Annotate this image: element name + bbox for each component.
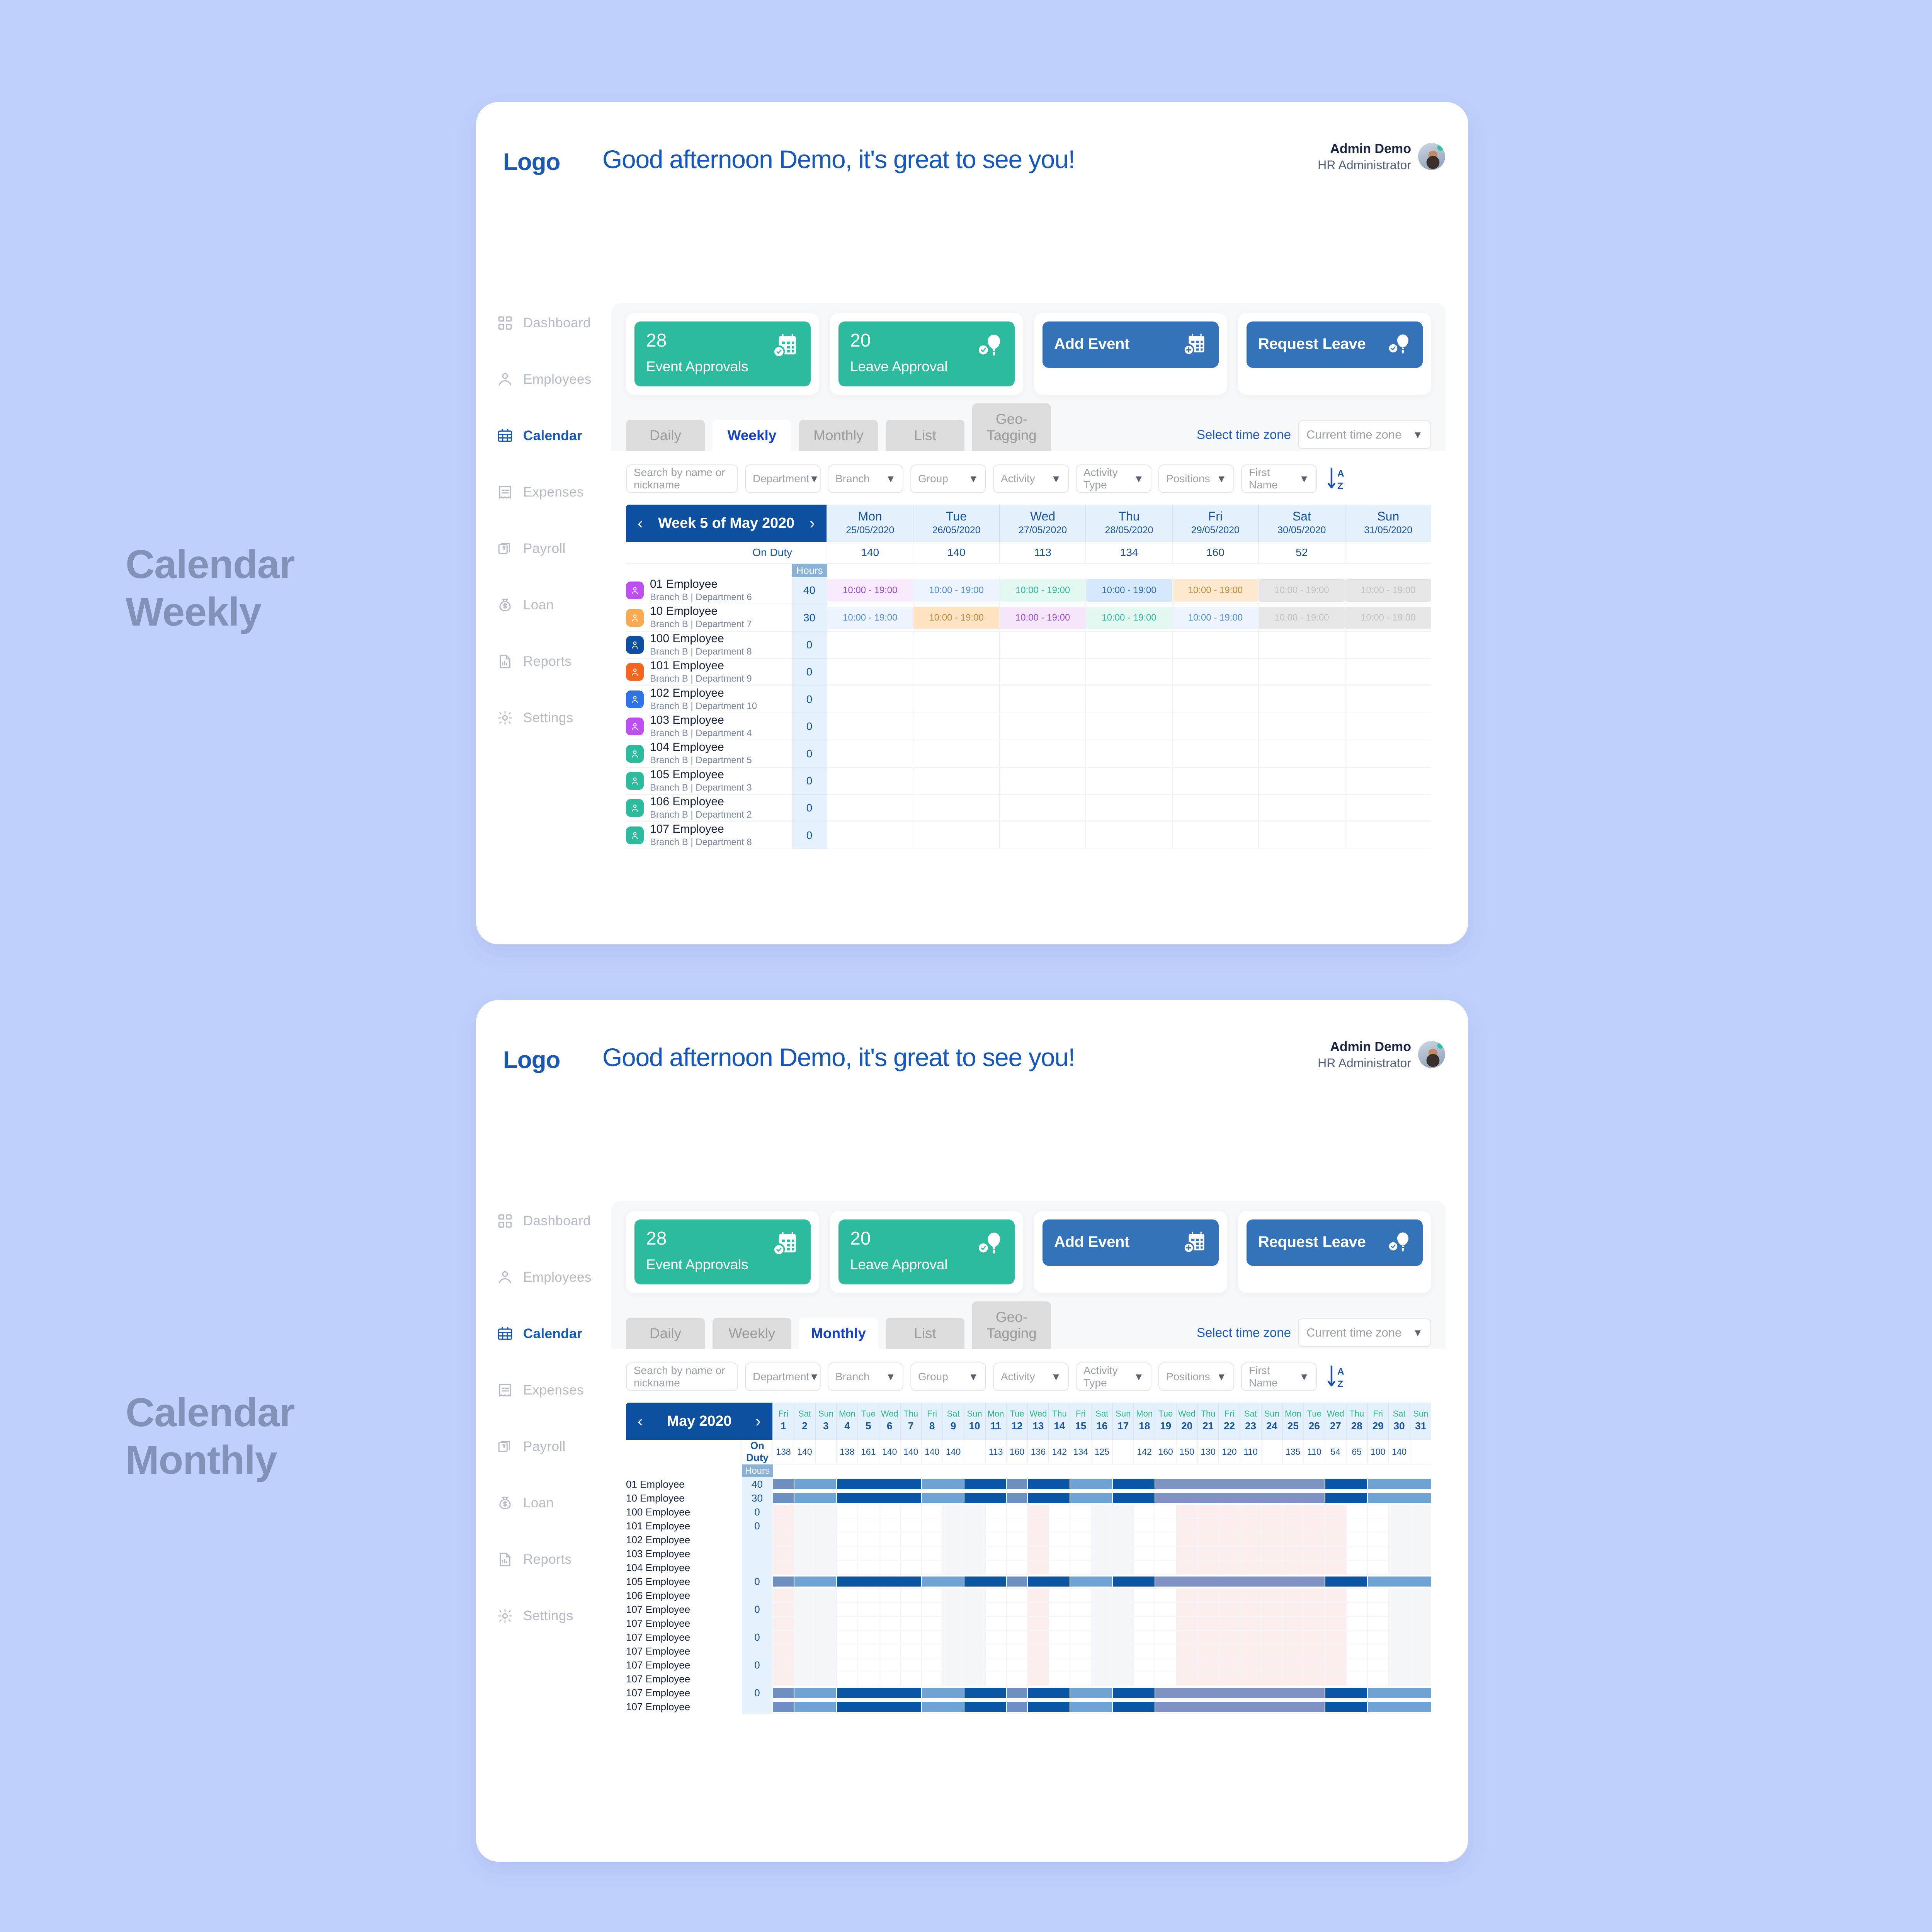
schedule-slot-empty[interactable] [1000,794,1086,821]
schedule-cell[interactable] [815,1519,837,1533]
schedule-cell[interactable] [773,1644,794,1658]
schedule-cell[interactable] [1325,1672,1346,1686]
table-row[interactable]: 103 EmployeeBranch B | Department 40 [626,713,1431,740]
schedule-cell[interactable] [1261,1519,1282,1533]
schedule-bar-segment[interactable] [1027,1477,1070,1491]
table-row[interactable]: 107 Employee0 [626,1630,1431,1644]
day-header[interactable]: Fri29 [1367,1403,1389,1440]
schedule-cell[interactable] [1007,1519,1028,1533]
schedule-cell[interactable] [1367,1547,1389,1561]
schedule-cell[interactable] [837,1602,858,1616]
schedule-cell[interactable] [1261,1630,1282,1644]
schedule-cell[interactable] [1240,1644,1261,1658]
employee-cell[interactable]: 104 EmployeeBranch B | Department 5 [626,740,792,767]
schedule-cell[interactable] [837,1561,858,1575]
schedule-cell[interactable] [794,1658,815,1672]
schedule-cell[interactable] [1261,1658,1282,1672]
schedule-cell[interactable] [1240,1505,1261,1519]
table-row[interactable]: 107 Employee0 [626,1658,1431,1672]
schedule-cell[interactable] [1091,1561,1112,1575]
schedule-slot-empty[interactable] [1000,822,1086,849]
schedule-cell[interactable] [815,1630,837,1644]
schedule-cell[interactable] [900,1561,922,1575]
schedule-cell[interactable] [858,1561,879,1575]
schedule-cell[interactable] [1134,1533,1155,1547]
schedule-cell[interactable] [964,1616,985,1630]
sidebar-item-reports[interactable]: Reports [476,645,604,678]
day-header[interactable]: Sat23 [1240,1403,1261,1440]
schedule-cell[interactable] [1070,1533,1091,1547]
schedule-cell[interactable] [1261,1672,1282,1686]
schedule-cell[interactable] [1027,1602,1049,1616]
schedule-cell[interactable] [794,1533,815,1547]
tab-geo-tagging[interactable]: Geo-Tagging [972,403,1051,451]
schedule-slot-empty[interactable] [1345,822,1431,849]
schedule-cell[interactable] [815,1533,837,1547]
schedule-cell[interactable] [1070,1672,1091,1686]
schedule-bar-segment[interactable] [922,1491,964,1505]
schedule-cell[interactable] [985,1533,1007,1547]
schedule-cell[interactable] [1112,1644,1134,1658]
schedule-cell[interactable] [922,1644,943,1658]
table-row[interactable]: 10 Employee30 [626,1491,1431,1505]
schedule-cell[interactable] [1367,1630,1389,1644]
schedule-slot-empty[interactable] [1086,740,1172,767]
schedule-cell[interactable] [794,1616,815,1630]
schedule-cell[interactable] [1282,1658,1304,1672]
filter-activity[interactable]: Activity▼ [993,1362,1069,1391]
table-row[interactable]: 101 Employee0 [626,1519,1431,1533]
schedule-cell[interactable] [858,1602,879,1616]
schedule-bar-segment[interactable] [922,1477,964,1491]
schedule-cell[interactable] [1367,1505,1389,1519]
schedule-cell[interactable] [1197,1658,1219,1672]
schedule-cell[interactable] [943,1533,964,1547]
schedule-cell[interactable] [1049,1630,1070,1644]
schedule-cell[interactable] [1007,1616,1028,1630]
stat-button-1[interactable]: 20Leave Approval [838,321,1015,386]
schedule-cell[interactable] [1282,1630,1304,1644]
schedule-cell[interactable] [1007,1547,1028,1561]
schedule-cell[interactable] [964,1533,985,1547]
schedule-bar-segment[interactable] [1367,1491,1431,1505]
schedule-cell[interactable] [1325,1630,1346,1644]
schedule-cell[interactable] [879,1588,900,1602]
schedule-cell[interactable] [1155,1616,1176,1630]
chevron-right-icon[interactable]: › [810,515,815,531]
schedule-cell[interactable] [815,1505,837,1519]
schedule-cell[interactable] [1410,1505,1431,1519]
schedule-cell[interactable] [943,1505,964,1519]
schedule-cell[interactable] [1389,1658,1410,1672]
schedule-cell[interactable] [1007,1602,1028,1616]
table-row[interactable]: 105 Employee0 [626,1575,1431,1588]
schedule-cell[interactable] [1091,1658,1112,1672]
schedule-cell[interactable] [1219,1547,1240,1561]
schedule-cell[interactable] [1112,1533,1134,1547]
schedule-cell[interactable] [858,1547,879,1561]
schedule-slot-empty[interactable] [1086,767,1172,794]
schedule-cell[interactable] [1346,1644,1367,1658]
schedule-cell[interactable] [837,1630,858,1644]
schedule-cell[interactable] [964,1658,985,1672]
schedule-cell[interactable] [1155,1630,1176,1644]
schedule-slot-empty[interactable] [1345,713,1431,740]
schedule-cell[interactable] [1091,1602,1112,1616]
schedule-cell[interactable] [1325,1519,1346,1533]
schedule-cell[interactable] [1070,1547,1091,1561]
schedule-bar-segment[interactable] [794,1491,837,1505]
schedule-cell[interactable] [794,1672,815,1686]
schedule-cell[interactable] [1219,1505,1240,1519]
schedule-cell[interactable] [879,1561,900,1575]
day-header[interactable]: Tue19 [1155,1403,1176,1440]
stat-button-0[interactable]: 28Event Approvals [634,321,811,386]
schedule-cell[interactable] [1282,1561,1304,1575]
table-row[interactable]: 107 Employee [626,1700,1431,1714]
schedule-cell[interactable] [773,1588,794,1602]
filter-activity[interactable]: Activity▼ [993,464,1069,493]
schedule-bar-segment[interactable] [1112,1491,1155,1505]
schedule-cell[interactable] [1155,1588,1176,1602]
schedule-cell[interactable] [1304,1644,1325,1658]
schedule-cell[interactable] [1346,1505,1367,1519]
schedule-bar-segment[interactable] [773,1700,794,1714]
schedule-cell[interactable] [985,1505,1007,1519]
schedule-cell[interactable] [837,1505,858,1519]
schedule-cell[interactable] [1325,1588,1346,1602]
schedule-cell[interactable] [943,1561,964,1575]
schedule-cell[interactable] [1049,1561,1070,1575]
schedule-cell[interactable] [1304,1672,1325,1686]
schedule-cell[interactable] [1176,1672,1197,1686]
schedule-cell[interactable] [1325,1505,1346,1519]
schedule-bar-segment[interactable] [1070,1700,1112,1714]
day-header[interactable]: Sun31/05/2020 [1345,505,1431,542]
schedule-cell[interactable] [794,1561,815,1575]
schedule-cell[interactable] [879,1505,900,1519]
tab-weekly[interactable]: Weekly [713,1318,791,1349]
schedule-cell[interactable] [1367,1672,1389,1686]
sidebar-item-expenses[interactable]: Expenses [476,1374,604,1406]
schedule-cell[interactable] [1112,1616,1134,1630]
schedule-cell[interactable] [1007,1505,1028,1519]
table-row[interactable]: 102 EmployeeBranch B | Department 100 [626,686,1431,713]
schedule-cell[interactable] [922,1672,943,1686]
schedule-slot[interactable]: 10:00 - 19:00 [1172,604,1259,631]
schedule-bar-segment[interactable] [1112,1700,1155,1714]
schedule-bar-segment[interactable] [1325,1477,1367,1491]
schedule-bar-segment[interactable] [1027,1686,1070,1700]
schedule-cell[interactable] [1410,1644,1431,1658]
schedule-slot-empty[interactable] [1259,794,1345,821]
sidebar-item-expenses[interactable]: Expenses [476,476,604,509]
schedule-cell[interactable] [1219,1561,1240,1575]
schedule-cell[interactable] [858,1644,879,1658]
schedule-bar-segment[interactable] [964,1686,1007,1700]
schedule-cell[interactable] [1389,1519,1410,1533]
sidebar-item-settings[interactable]: Settings [476,702,604,734]
day-header[interactable]: Mon18 [1134,1403,1155,1440]
schedule-cell[interactable] [943,1588,964,1602]
schedule-bar-segment[interactable] [1007,1477,1028,1491]
schedule-bar-segment[interactable] [837,1491,922,1505]
schedule-cell[interactable] [837,1616,858,1630]
schedule-cell[interactable] [1367,1588,1389,1602]
sidebar-item-loan[interactable]: Loan [476,589,604,621]
schedule-cell[interactable] [1261,1561,1282,1575]
filter-department[interactable]: Department▼ [745,1362,821,1391]
schedule-cell[interactable] [1049,1672,1070,1686]
schedule-cell[interactable] [1112,1505,1134,1519]
schedule-slot-empty[interactable] [1259,767,1345,794]
schedule-cell[interactable] [900,1519,922,1533]
schedule-cell[interactable] [964,1588,985,1602]
schedule-cell[interactable] [1219,1602,1240,1616]
day-header[interactable]: Thu7 [900,1403,922,1440]
schedule-cell[interactable] [1389,1644,1410,1658]
schedule-bar-segment[interactable] [1367,1477,1431,1491]
schedule-cell[interactable] [1261,1644,1282,1658]
schedule-cell[interactable] [794,1588,815,1602]
schedule-cell[interactable] [1219,1658,1240,1672]
schedule-bar-segment[interactable] [1027,1491,1070,1505]
schedule-bar-segment[interactable] [1070,1575,1112,1588]
schedule-slot-empty[interactable] [1172,658,1259,685]
schedule-cell[interactable] [1389,1672,1410,1686]
add-event-button[interactable]: Add Event [1043,1219,1219,1266]
tab-list[interactable]: List [886,1318,964,1349]
schedule-cell[interactable] [1134,1602,1155,1616]
table-row[interactable]: 107 Employee0 [626,1686,1431,1700]
schedule-bar-segment[interactable] [1070,1477,1112,1491]
schedule-cell[interactable] [773,1547,794,1561]
schedule-cell[interactable] [1410,1547,1431,1561]
schedule-cell[interactable] [837,1533,858,1547]
schedule-cell[interactable] [943,1519,964,1533]
schedule-cell[interactable] [1346,1658,1367,1672]
schedule-cell[interactable] [1389,1588,1410,1602]
schedule-cell[interactable] [815,1672,837,1686]
schedule-slot-empty[interactable] [1345,794,1431,821]
schedule-cell[interactable] [1304,1616,1325,1630]
sidebar-item-payroll[interactable]: Payroll [476,1430,604,1463]
employee-cell[interactable]: 101 EmployeeBranch B | Department 9 [626,658,792,685]
timezone-select[interactable]: Current time zone▼ [1298,420,1431,449]
schedule-cell[interactable] [1410,1561,1431,1575]
schedule-cell[interactable] [1240,1588,1261,1602]
schedule-cell[interactable] [985,1588,1007,1602]
schedule-cell[interactable] [1134,1505,1155,1519]
sort-az-icon[interactable]: AZ [1326,1364,1349,1389]
tab-daily[interactable]: Daily [626,1318,705,1349]
schedule-cell[interactable] [1112,1658,1134,1672]
schedule-cell[interactable] [1070,1658,1091,1672]
schedule-cell[interactable] [922,1630,943,1644]
schedule-cell[interactable] [1197,1505,1219,1519]
schedule-cell[interactable] [815,1658,837,1672]
schedule-cell[interactable] [985,1547,1007,1561]
schedule-cell[interactable] [1346,1561,1367,1575]
schedule-cell[interactable] [1197,1533,1219,1547]
request-leave-button[interactable]: Request Leave [1247,1219,1423,1266]
schedule-bar-segment[interactable] [837,1700,922,1714]
schedule-slot[interactable]: 10:00 - 19:00 [1172,577,1259,604]
schedule-cell[interactable] [985,1658,1007,1672]
table-row[interactable]: 102 Employee [626,1533,1431,1547]
day-header[interactable]: Fri15 [1070,1403,1091,1440]
schedule-cell[interactable] [943,1644,964,1658]
schedule-bar-segment[interactable] [1070,1491,1112,1505]
schedule-cell[interactable] [1091,1588,1112,1602]
schedule-cell[interactable] [1007,1533,1028,1547]
schedule-cell[interactable] [1325,1602,1346,1616]
schedule-cell[interactable] [964,1672,985,1686]
tab-daily[interactable]: Daily [626,420,705,451]
schedule-bar-segment[interactable] [1325,1491,1367,1505]
schedule-bar-segment[interactable] [1155,1477,1325,1491]
schedule-cell[interactable] [1007,1588,1028,1602]
schedule-cell[interactable] [1346,1519,1367,1533]
sidebar-item-dashboard[interactable]: Dashboard [476,1205,604,1237]
schedule-cell[interactable] [1155,1602,1176,1616]
schedule-cell[interactable] [1070,1630,1091,1644]
schedule-cell[interactable] [1410,1630,1431,1644]
schedule-cell[interactable] [1325,1561,1346,1575]
day-header[interactable]: Tue5 [858,1403,879,1440]
schedule-slot-empty[interactable] [1086,631,1172,658]
table-row[interactable]: 01 Employee40 [626,1477,1431,1491]
schedule-cell[interactable] [1027,1644,1049,1658]
schedule-cell[interactable] [879,1672,900,1686]
schedule-cell[interactable] [1240,1672,1261,1686]
schedule-cell[interactable] [773,1519,794,1533]
schedule-cell[interactable] [773,1672,794,1686]
schedule-slot-empty[interactable] [1172,713,1259,740]
schedule-slot[interactable]: 10:00 - 19:00 [1345,604,1431,631]
schedule-cell[interactable] [1367,1533,1389,1547]
schedule-cell[interactable] [794,1602,815,1616]
schedule-slot-empty[interactable] [1172,740,1259,767]
schedule-slot-empty[interactable] [913,713,999,740]
schedule-slot-empty[interactable] [913,686,999,713]
schedule-cell[interactable] [1007,1644,1028,1658]
schedule-cell[interactable] [985,1672,1007,1686]
schedule-bar-segment[interactable] [1325,1700,1367,1714]
schedule-cell[interactable] [1219,1644,1240,1658]
schedule-cell[interactable] [1346,1547,1367,1561]
schedule-cell[interactable] [922,1658,943,1672]
schedule-slot-empty[interactable] [1000,713,1086,740]
day-header[interactable]: Sun17 [1112,1403,1134,1440]
schedule-cell[interactable] [900,1533,922,1547]
schedule-cell[interactable] [1155,1547,1176,1561]
schedule-slot[interactable]: 10:00 - 19:00 [913,577,999,604]
day-header[interactable]: Mon11 [985,1403,1007,1440]
schedule-bar-segment[interactable] [794,1700,837,1714]
schedule-cell[interactable] [1261,1602,1282,1616]
tab-geo-tagging[interactable]: Geo-Tagging [972,1301,1051,1349]
schedule-cell[interactable] [985,1644,1007,1658]
schedule-cell[interactable] [837,1547,858,1561]
schedule-cell[interactable] [964,1602,985,1616]
table-row[interactable]: 107 Employee [626,1672,1431,1686]
request-leave-button[interactable]: Request Leave [1247,321,1423,368]
schedule-slot-empty[interactable] [827,713,913,740]
day-header[interactable]: Sat16 [1091,1403,1112,1440]
day-header[interactable]: Sun3 [815,1403,837,1440]
schedule-bar-segment[interactable] [773,1477,794,1491]
schedule-cell[interactable] [1367,1644,1389,1658]
day-header[interactable]: Fri8 [922,1403,943,1440]
filter-department[interactable]: Department▼ [745,464,821,493]
schedule-slot-empty[interactable] [1345,767,1431,794]
schedule-bar-segment[interactable] [1155,1575,1325,1588]
schedule-bar-segment[interactable] [1070,1686,1112,1700]
day-header[interactable]: Sat30/05/2020 [1259,505,1345,542]
schedule-cell[interactable] [900,1616,922,1630]
schedule-cell[interactable] [858,1588,879,1602]
schedule-cell[interactable] [1134,1672,1155,1686]
day-header[interactable]: Thu14 [1049,1403,1070,1440]
schedule-cell[interactable] [1219,1519,1240,1533]
schedule-slot-empty[interactable] [1086,686,1172,713]
schedule-cell[interactable] [1346,1533,1367,1547]
day-header[interactable]: Sun10 [964,1403,985,1440]
schedule-cell[interactable] [1070,1561,1091,1575]
schedule-slot-empty[interactable] [913,822,999,849]
tab-monthly[interactable]: Monthly [799,420,878,451]
schedule-cell[interactable] [1176,1519,1197,1533]
table-row[interactable]: 104 Employee [626,1561,1431,1575]
schedule-cell[interactable] [858,1533,879,1547]
schedule-cell[interactable] [1112,1672,1134,1686]
schedule-cell[interactable] [1240,1561,1261,1575]
schedule-slot-empty[interactable] [913,794,999,821]
schedule-cell[interactable] [1176,1588,1197,1602]
schedule-cell[interactable] [964,1519,985,1533]
schedule-cell[interactable] [1027,1616,1049,1630]
schedule-bar-segment[interactable] [1007,1686,1028,1700]
schedule-slot-empty[interactable] [827,740,913,767]
schedule-cell[interactable] [922,1533,943,1547]
schedule-cell[interactable] [1197,1547,1219,1561]
schedule-cell[interactable] [1176,1547,1197,1561]
schedule-slot-empty[interactable] [1086,658,1172,685]
schedule-slot-empty[interactable] [1000,631,1086,658]
schedule-slot-empty[interactable] [1172,822,1259,849]
schedule-cell[interactable] [1070,1644,1091,1658]
schedule-slot-empty[interactable] [1086,822,1172,849]
schedule-cell[interactable] [1049,1658,1070,1672]
schedule-cell[interactable] [1155,1505,1176,1519]
schedule-cell[interactable] [922,1588,943,1602]
schedule-cell[interactable] [879,1658,900,1672]
schedule-bar-segment[interactable] [964,1575,1007,1588]
search-input[interactable]: Search by name or nickname [626,1362,738,1391]
schedule-bar-segment[interactable] [922,1700,964,1714]
schedule-cell[interactable] [1261,1588,1282,1602]
day-header[interactable]: Sun24 [1261,1403,1282,1440]
schedule-cell[interactable] [964,1561,985,1575]
schedule-slot-empty[interactable] [1259,631,1345,658]
user-profile[interactable]: Admin Demo HR Administrator [1318,1039,1445,1071]
schedule-bar-segment[interactable] [964,1700,1007,1714]
schedule-slot-empty[interactable] [1259,658,1345,685]
schedule-cell[interactable] [1155,1561,1176,1575]
schedule-cell[interactable] [1304,1630,1325,1644]
filter-activity-type[interactable]: Activity Type▼ [1076,1362,1151,1391]
